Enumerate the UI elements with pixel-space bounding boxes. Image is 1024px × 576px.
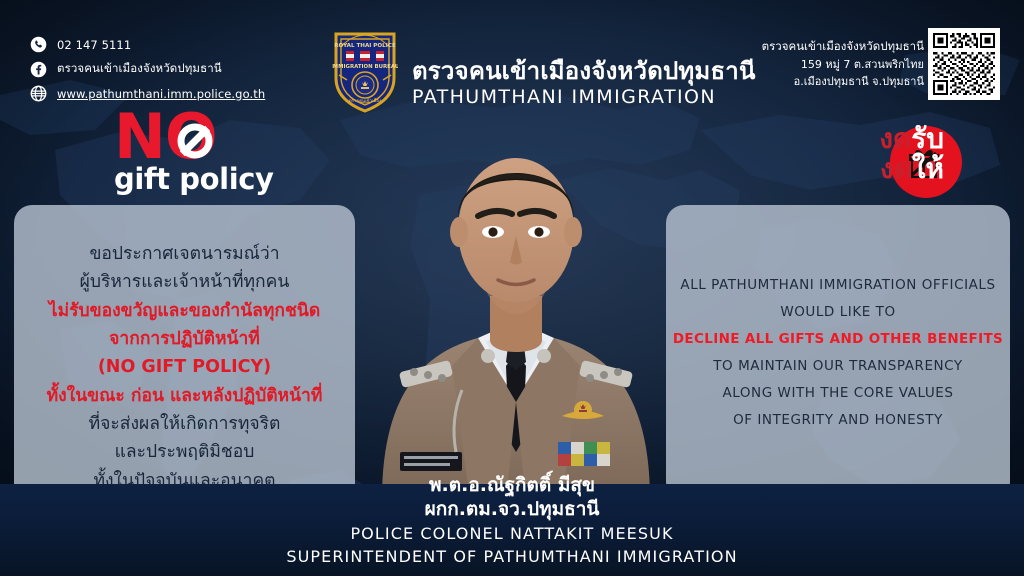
address-title: ตรวจคนเข้าเมืองจังหวัดปทุมธานี xyxy=(762,38,924,56)
brand-title-thai: ตรวจคนเข้าเมืองจังหวัดปทุมธานี xyxy=(412,58,756,86)
thai-line-6: ทั้งในขณะ ก่อน และหลังปฏิบัติหน้าที่ xyxy=(47,382,323,410)
address-block: ตรวจคนเข้าเมืองจังหวัดปทุมธานี 159 หมู่ … xyxy=(762,38,924,91)
thai-line-2: ผู้บริหารและเจ้าหน้าที่ทุกคน xyxy=(47,268,323,296)
thai-no-gift-line-1: งดรับ xyxy=(879,124,944,154)
contact-info-block: 02 147 5111 ตรวจคนเข้าเมืองจังหวัดปทุมธา… xyxy=(30,36,265,102)
officer-name-thai: พ.ต.อ.ณัฐกิตติ์ มีสุข xyxy=(0,474,1024,498)
thai-statement-lines: ขอประกาศเจตนารมณ์ว่า ผู้บริหารและเจ้าหน้… xyxy=(47,240,323,495)
address-line-1: 159 หมู่ 7 ต.สวนพริกไทย xyxy=(762,56,924,74)
no-gift-policy-logo: NO gift policy xyxy=(114,112,274,194)
prohibition-slash-icon xyxy=(175,121,215,161)
contact-facebook-text[interactable]: ตรวจคนเข้าเมืองจังหวัดปทุมธานี xyxy=(57,60,222,78)
english-statement-panel: ALL PATHUMTHANI IMMIGRATION OFFICIALS WO… xyxy=(666,205,1010,500)
poster-canvas: 02 147 5111 ตรวจคนเข้าเมืองจังหวัดปทุมธา… xyxy=(0,0,1024,576)
thai-line-7: ที่จะส่งผลให้เกิดการทุจริต xyxy=(47,410,323,438)
globe-icon[interactable] xyxy=(30,85,47,102)
contact-row-facebook[interactable]: ตรวจคนเข้าเมืองจังหวัดปทุมธานี xyxy=(30,60,265,78)
english-line-3: DECLINE ALL GIFTS AND OTHER BENEFITS xyxy=(673,326,1003,353)
contact-website-text[interactable]: www.pathumthani.imm.police.go.th xyxy=(57,87,265,101)
thai-line-8: และประพฤติมิชอบ xyxy=(47,438,323,466)
thai-ngot-1: งด xyxy=(879,122,911,155)
officer-portrait xyxy=(366,90,666,500)
thai-no-gift-line-2: งดให้ xyxy=(879,154,944,184)
facebook-icon[interactable] xyxy=(30,61,47,78)
thai-ngot-2: งด xyxy=(880,152,912,185)
contact-phone-text: 02 147 5111 xyxy=(57,38,131,52)
english-line-2: WOULD LIKE TO xyxy=(673,299,1003,326)
contact-row-phone: 02 147 5111 xyxy=(30,36,265,53)
thai-line-5: (NO GIFT POLICY) xyxy=(47,353,323,381)
no-gift-word-no: NO xyxy=(114,112,274,163)
svg-text:IMMIGRATION BUREAU: IMMIGRATION BUREAU xyxy=(332,64,398,70)
officer-name-block: พ.ต.อ.ณัฐกิตติ์ มีสุข ผกก.ตม.จว.ปทุมธานี… xyxy=(0,474,1024,568)
address-line-2: อ.เมืองปทุมธานี จ.ปทุมธานี xyxy=(762,73,924,91)
english-line-5: ALONG WITH THE CORE VALUES xyxy=(673,380,1003,407)
thai-no-gift-block: งดรับ งดให้ xyxy=(879,124,944,184)
english-statement-lines: ALL PATHUMTHANI IMMIGRATION OFFICIALS WO… xyxy=(673,272,1003,434)
thai-rap: รับ xyxy=(911,122,944,155)
thai-line-4: จากการปฏิบัติหน้าที่ xyxy=(47,325,323,353)
thai-line-3: ไม่รับของขวัญและของกำนัลทุกชนิด xyxy=(47,297,323,325)
officer-name-english: POLICE COLONEL NATTAKIT MEESUK xyxy=(0,522,1024,545)
svg-text:ROYAL THAI POLICE: ROYAL THAI POLICE xyxy=(334,43,396,49)
qr-code[interactable] xyxy=(928,28,1000,100)
english-line-6: OF INTEGRITY AND HONESTY xyxy=(673,407,1003,434)
officer-rank-english: SUPERINTENDENT OF PATHUMTHANI IMMIGRATIO… xyxy=(0,545,1024,568)
officer-rank-thai: ผกก.ตม.จว.ปทุมธานี xyxy=(0,498,1024,522)
thai-hai: ให้ xyxy=(912,152,944,185)
thai-line-1: ขอประกาศเจตนารมณ์ว่า xyxy=(47,240,323,268)
phone-icon xyxy=(30,36,47,53)
english-line-1: ALL PATHUMTHANI IMMIGRATION OFFICIALS xyxy=(673,272,1003,299)
english-line-4: TO MAINTAIN OUR TRANSPARENCY xyxy=(673,353,1003,380)
